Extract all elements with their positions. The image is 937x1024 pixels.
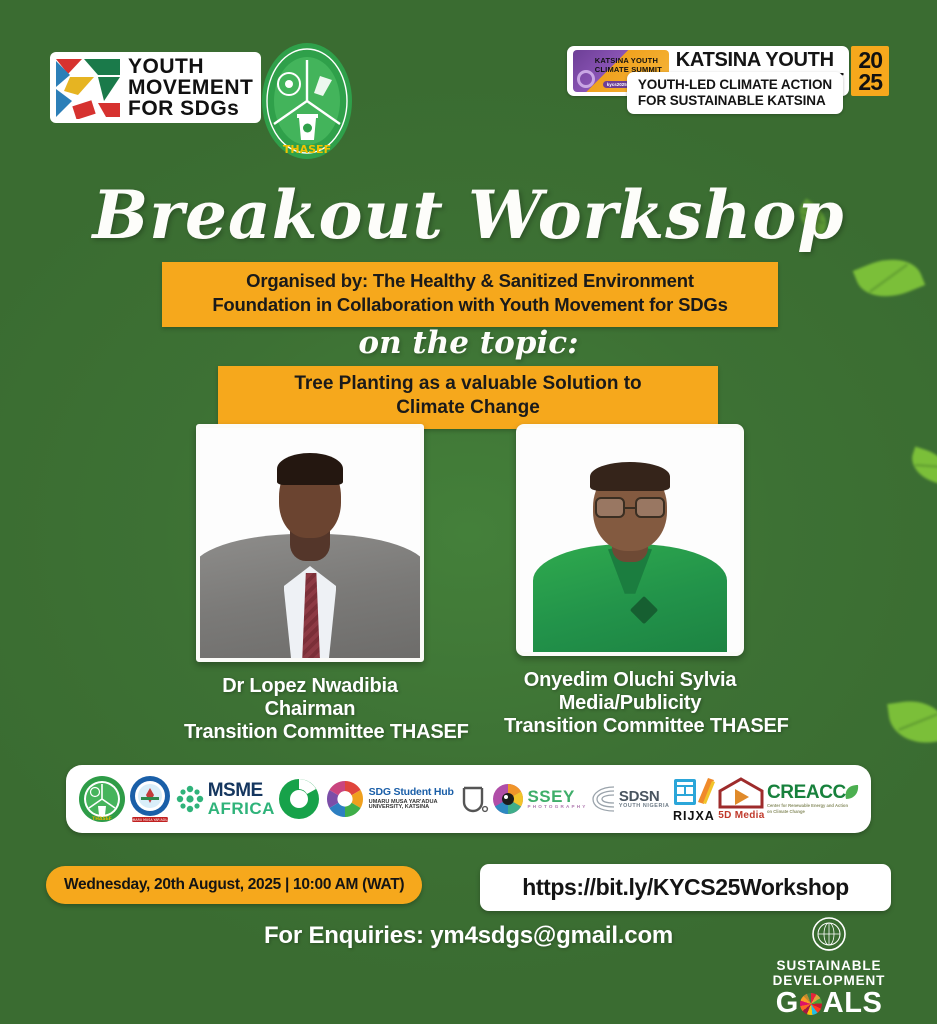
5d-media-label: 5D Media bbox=[718, 810, 764, 821]
sdsn-label-line-2: YOUTH NIGERIA bbox=[619, 804, 670, 809]
speaker-photo-1 bbox=[196, 424, 424, 662]
creacc-leaf-icon bbox=[843, 784, 859, 802]
kycs-year-bottom: 25 bbox=[858, 71, 882, 93]
leaf-decoration-icon bbox=[887, 696, 937, 747]
partner-logo-sdg-student-hub: SDG Student Hub UMARU MUSA YAR'ADUA UNIV… bbox=[324, 778, 454, 820]
ym-line-3: FOR SDGs bbox=[128, 98, 253, 119]
kycs-year-top: 20 bbox=[858, 49, 882, 71]
speaker-photo-2 bbox=[516, 424, 744, 656]
sdg-line-2: DEVELOPMENT bbox=[769, 974, 889, 988]
date-time-badge: Wednesday, 20th August, 2025 | 10:00 AM … bbox=[46, 866, 422, 904]
kycs-tagline-line-1: YOUTH-LED CLIMATE ACTION bbox=[638, 77, 832, 93]
university-crest-icon: UMARU MUSA YAR'ADUA bbox=[128, 775, 172, 823]
speaker-2-org: Transition Committee THASEF bbox=[504, 715, 756, 738]
magnifier-icon bbox=[577, 70, 595, 88]
msme-label-line-1: MSME bbox=[208, 781, 275, 800]
kycs-tagline-line-2: FOR SUSTAINABLE KATSINA bbox=[638, 93, 832, 109]
topic-line-2: Climate Change bbox=[228, 396, 708, 420]
sdg-line-3: G ALS bbox=[769, 989, 889, 1018]
topic-band: Tree Planting as a valuable Solution to … bbox=[218, 366, 718, 429]
speaker-2-name: Onyedim Oluchi Sylvia bbox=[504, 669, 756, 692]
speaker-card-2: Onyedim Oluchi Sylvia Media/Publicity Tr… bbox=[516, 424, 744, 737]
sdg-line-1: SUSTAINABLE bbox=[769, 959, 889, 973]
partner-logo-rijxa: RIJXA bbox=[672, 776, 716, 823]
kycs-tagline: YOUTH-LED CLIMATE ACTION FOR SUSTAINABLE… bbox=[627, 72, 843, 114]
thasef-logo-icon: THASEF bbox=[258, 40, 356, 162]
kycs-year-badge: 20 25 bbox=[851, 46, 889, 96]
sdg-hub-line-1: SDG Student Hub bbox=[369, 787, 454, 798]
youth-movement-for-sdgs-logo: YOUTH MOVEMENT FOR SDGs bbox=[50, 52, 261, 123]
page-title: Breakout Workshop bbox=[0, 176, 937, 254]
5d-media-house-icon bbox=[718, 777, 764, 809]
portrait-illustration bbox=[520, 428, 740, 652]
poster-canvas: YOUTH MOVEMENT FOR SDGs THASEF K bbox=[0, 0, 937, 1024]
on-the-topic-label: on the topic: bbox=[0, 325, 937, 361]
thasef-seal-icon: THASEF bbox=[78, 775, 126, 823]
creacc-label-line-1: CREACC bbox=[767, 783, 853, 802]
partner-logo-green-ring bbox=[277, 777, 321, 821]
speaker-2-details: Onyedim Oluchi Sylvia Media/Publicity Tr… bbox=[504, 669, 756, 737]
header-logo-row: YOUTH MOVEMENT FOR SDGs THASEF K bbox=[0, 0, 937, 165]
speaker-2-role: Media/Publicity bbox=[504, 692, 756, 715]
ym-line-1: YOUTH bbox=[128, 56, 253, 77]
sdsn-globe-icon bbox=[590, 784, 616, 814]
speaker-1-org: Transition Committee THASEF bbox=[184, 721, 436, 744]
rijxa-label: RIJXA bbox=[673, 809, 715, 823]
sdg-goals-left: G bbox=[776, 989, 799, 1018]
speaker-card-1: Dr Lopez Nwadibia Chairman Transition Co… bbox=[196, 424, 424, 743]
partner-logo-ssey: SSEY PHOTOGRAPHY bbox=[492, 783, 587, 815]
sdg-student-hub-icon bbox=[324, 778, 366, 820]
green-ring-icon bbox=[277, 777, 321, 821]
sdg-goals-right: ALS bbox=[823, 989, 883, 1018]
leaf-decoration-icon bbox=[853, 248, 925, 308]
msme-mark-icon bbox=[175, 782, 205, 816]
organiser-line-2: Foundation in Collaboration with Youth M… bbox=[170, 293, 770, 317]
partner-logo-creacc: CREACC Center for Renewable Energy and A… bbox=[767, 783, 859, 814]
speaker-1-name: Dr Lopez Nwadibia bbox=[184, 675, 436, 698]
ssey-label-line-1: SSEY bbox=[527, 788, 587, 805]
svg-text:UMARU MUSA YAR'ADUA: UMARU MUSA YAR'ADUA bbox=[131, 818, 171, 822]
partner-logo-umyu: UMARU MUSA YAR'ADUA bbox=[128, 775, 172, 823]
sdsn-label-line-1: SDSN bbox=[619, 789, 670, 804]
partner-logo-sdsn: SDSN YOUTH NIGERIA bbox=[590, 784, 670, 814]
ssey-label-line-2: PHOTOGRAPHY bbox=[527, 805, 587, 810]
glasses-icon bbox=[595, 497, 665, 517]
organiser-line-1: Organised by: The Healthy & Sanitized En… bbox=[170, 269, 770, 293]
partner-logo-u-mark bbox=[456, 782, 490, 816]
partner-logo-5d-media: 5D Media bbox=[718, 777, 764, 821]
sdg-hub-line-3: UNIVERSITY, KATSINA bbox=[369, 805, 454, 811]
msme-label-line-2: AFRICA bbox=[208, 800, 275, 817]
ym-line-2: MOVEMENT bbox=[128, 77, 253, 98]
ym-wordmark: YOUTH MOVEMENT FOR SDGs bbox=[128, 56, 253, 119]
ym-emblem-icon bbox=[54, 57, 122, 119]
rijxa-mark-icon bbox=[672, 776, 716, 808]
registration-link[interactable]: https://bit.ly/KYCS25Workshop bbox=[480, 864, 891, 911]
creacc-label-line-2: Center for Renewable Energy and Action o… bbox=[767, 803, 853, 814]
sdg-color-wheel-icon bbox=[800, 993, 822, 1015]
organiser-band: Organised by: The Healthy & Sanitized En… bbox=[162, 262, 778, 327]
ssey-camera-icon bbox=[492, 783, 524, 815]
kycs-title-line-1: KATSINA YOUTH bbox=[676, 50, 844, 71]
sustainable-development-goals-logo: SUSTAINABLE DEVELOPMENT G ALS bbox=[769, 917, 889, 1018]
leaf-decoration-icon bbox=[907, 447, 937, 486]
partner-logo-msme-africa: MSME AFRICA bbox=[175, 781, 275, 817]
speaker-1-role: Chairman bbox=[184, 698, 436, 721]
partner-thasef-label: THASEF bbox=[92, 816, 112, 822]
portrait-illustration bbox=[200, 428, 420, 658]
speaker-1-details: Dr Lopez Nwadibia Chairman Transition Co… bbox=[184, 675, 436, 743]
svg-text:THASEF: THASEF bbox=[283, 143, 331, 156]
partner-logo-thasef: THASEF bbox=[78, 775, 126, 823]
united-nations-emblem-icon bbox=[812, 917, 846, 951]
partner-logos-strip: THASEF UMARU MUSA YAR'ADUA bbox=[66, 765, 871, 833]
topic-line-1: Tree Planting as a valuable Solution to bbox=[228, 372, 708, 396]
u-mark-icon bbox=[456, 782, 490, 816]
